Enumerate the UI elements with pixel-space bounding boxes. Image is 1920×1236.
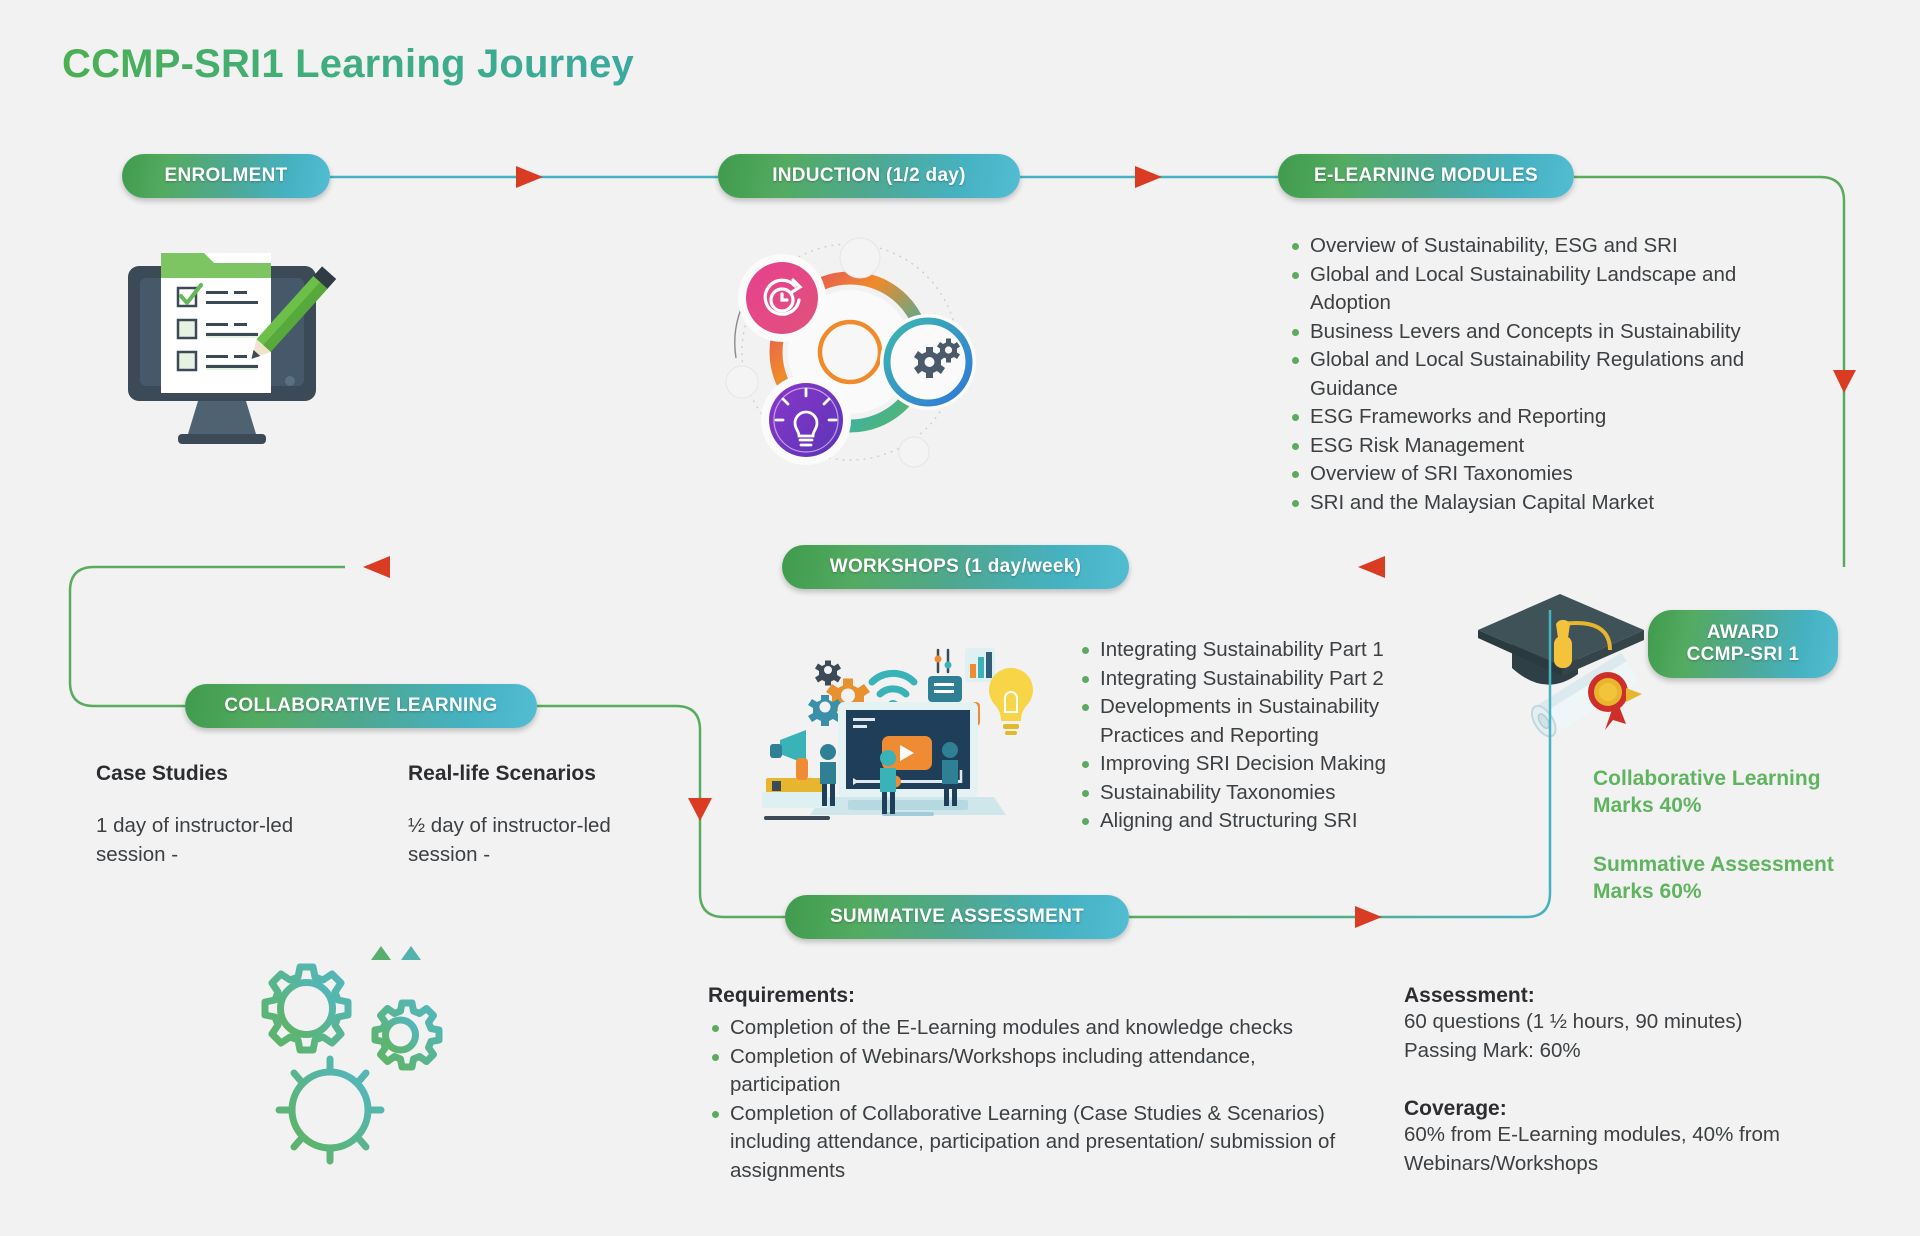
list-item: Developments in Sustainability Practices… [1078,693,1418,750]
induction-illustration [700,230,1000,475]
list-item: SRI and the Malaysian Capital Market [1288,489,1808,518]
collaborative-column-real-life-scenarios: Real-life Scenarios ½ day of instructor-… [408,762,638,869]
list-item: Business Levers and Concepts in Sustaina… [1288,318,1808,347]
stage-label-induction: INDUCTION (1/2 day) [772,165,966,187]
requirements-heading: Requirements: [708,984,1368,1008]
stage-pill-summative-assessment[interactable]: SUMMATIVE ASSESSMENT [785,895,1129,939]
stage-label-workshops: WORKSHOPS (1 day/week) [830,556,1082,578]
award-illustration [1468,588,1678,778]
list-item: Integrating Sustainability Part 1 [1078,636,1418,665]
real-life-scenarios-heading: Real-life Scenarios [408,762,638,786]
stage-pill-enrolment[interactable]: ENROLMENT [122,154,330,198]
list-item: Overview of SRI Taxonomies [1288,460,1808,489]
award-marks: Collaborative Learning Marks 40% Summati… [1593,765,1873,905]
stage-pill-induction[interactable]: INDUCTION (1/2 day) [718,154,1020,198]
stage-label-enrolment: ENROLMENT [164,165,287,187]
list-item: Completion of Collaborative Learning (Ca… [708,1100,1368,1186]
real-life-scenarios-detail: ½ day of instructor-led session - [408,812,638,869]
elearning-bullets: Overview of Sustainability, ESG and SRI … [1288,232,1808,517]
list-item: Completion of the E-Learning modules and… [708,1014,1368,1043]
enrolment-illustration [120,238,340,453]
stage-label-summative-assessment: SUMMATIVE ASSESSMENT [830,906,1084,928]
collaborative-column-case-studies: Case Studies 1 day of instructor-led ses… [96,762,326,869]
collaborative-learning-marks: Collaborative Learning Marks 40% [1593,765,1873,819]
assessment-line-2: Passing Mark: 60% [1404,1037,1844,1066]
gears-illustration [235,920,465,1140]
coverage-heading: Coverage: [1404,1097,1844,1121]
list-item: Completion of Webinars/Workshops includi… [708,1043,1368,1100]
workshops-illustration [760,640,1050,830]
list-item: Overview of Sustainability, ESG and SRI [1288,232,1808,261]
stage-label-collaborative-learning: COLLABORATIVE LEARNING [224,695,497,717]
list-item: Sustainability Taxonomies [1078,779,1418,808]
page-title: CCMP-SRI1 Learning Journey [62,42,634,87]
stage-pill-elearning[interactable]: E-LEARNING MODULES [1278,154,1574,198]
list-item: ESG Frameworks and Reporting [1288,403,1808,432]
summative-assessment-marks: Summative Assessment Marks 60% [1593,851,1873,905]
assessment-heading: Assessment: [1404,984,1844,1008]
infographic-canvas: CCMP-SRI1 Learning Journey [0,0,1920,1236]
summative-assessment-details: Assessment: 60 questions (1 ½ hours, 90 … [1404,984,1844,1178]
list-item: Aligning and Structuring SRI [1078,807,1418,836]
list-item: Global and Local Sustainability Landscap… [1288,261,1808,318]
summative-requirements: Requirements: Completion of the E-Learni… [708,984,1368,1185]
requirements-bullets: Completion of the E-Learning modules and… [708,1014,1368,1185]
list-item: Improving SRI Decision Making [1078,750,1418,779]
stage-label-elearning: E-LEARNING MODULES [1314,165,1538,187]
workshops-topics-list: Integrating Sustainability Part 1 Integr… [1078,636,1418,836]
case-studies-detail: 1 day of instructor-led session - [96,812,326,869]
assessment-line-1: 60 questions (1 ½ hours, 90 minutes) [1404,1008,1844,1037]
stage-pill-collaborative-learning[interactable]: COLLABORATIVE LEARNING [185,684,537,728]
award-label-line1: AWARD [1707,622,1779,644]
coverage-line-1: 60% from E-Learning modules, 40% from [1404,1121,1844,1150]
workshops-bullets: Integrating Sustainability Part 1 Integr… [1078,636,1418,836]
coverage-line-2: Webinars/Workshops [1404,1150,1844,1179]
list-item: Global and Local Sustainability Regulati… [1288,346,1808,403]
award-label-line2: CCMP-SRI 1 [1687,644,1800,666]
case-studies-heading: Case Studies [96,762,326,786]
elearning-modules-list: Overview of Sustainability, ESG and SRI … [1288,232,1808,517]
list-item: Integrating Sustainability Part 2 [1078,665,1418,694]
list-item: ESG Risk Management [1288,432,1808,461]
stage-pill-award[interactable]: AWARD CCMP-SRI 1 [1648,610,1838,678]
stage-pill-workshops[interactable]: WORKSHOPS (1 day/week) [782,545,1129,589]
